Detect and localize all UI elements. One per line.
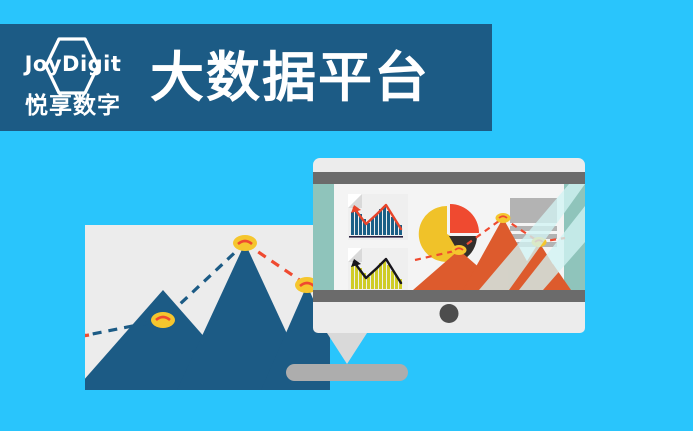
- power-indicator-icon: [440, 304, 459, 323]
- widget-bar-chart-blue: [348, 194, 408, 240]
- illustration-canvas: JoyDigit 悦享数字 大数据平台: [0, 0, 693, 431]
- widget-bar-chart-yellow: [348, 248, 408, 290]
- monitor-bottom-bezel: [313, 290, 585, 302]
- monitor-stand-neck: [327, 333, 367, 364]
- header-banner: JoyDigit 悦享数字 大数据平台: [0, 24, 492, 131]
- logo-chinese-name: 悦享数字: [14, 86, 132, 120]
- trend-line-stub: [85, 335, 89, 337]
- page-title: 大数据平台: [150, 51, 430, 105]
- logo-wordmark: JoyDigit: [14, 52, 132, 76]
- monitor-screen: [313, 184, 585, 290]
- monitor-stand-base: [286, 364, 408, 381]
- monitor-top-bezel: [313, 172, 585, 184]
- brand-logo: JoyDigit 悦享数字: [14, 34, 132, 122]
- desktop-monitor: [313, 158, 585, 333]
